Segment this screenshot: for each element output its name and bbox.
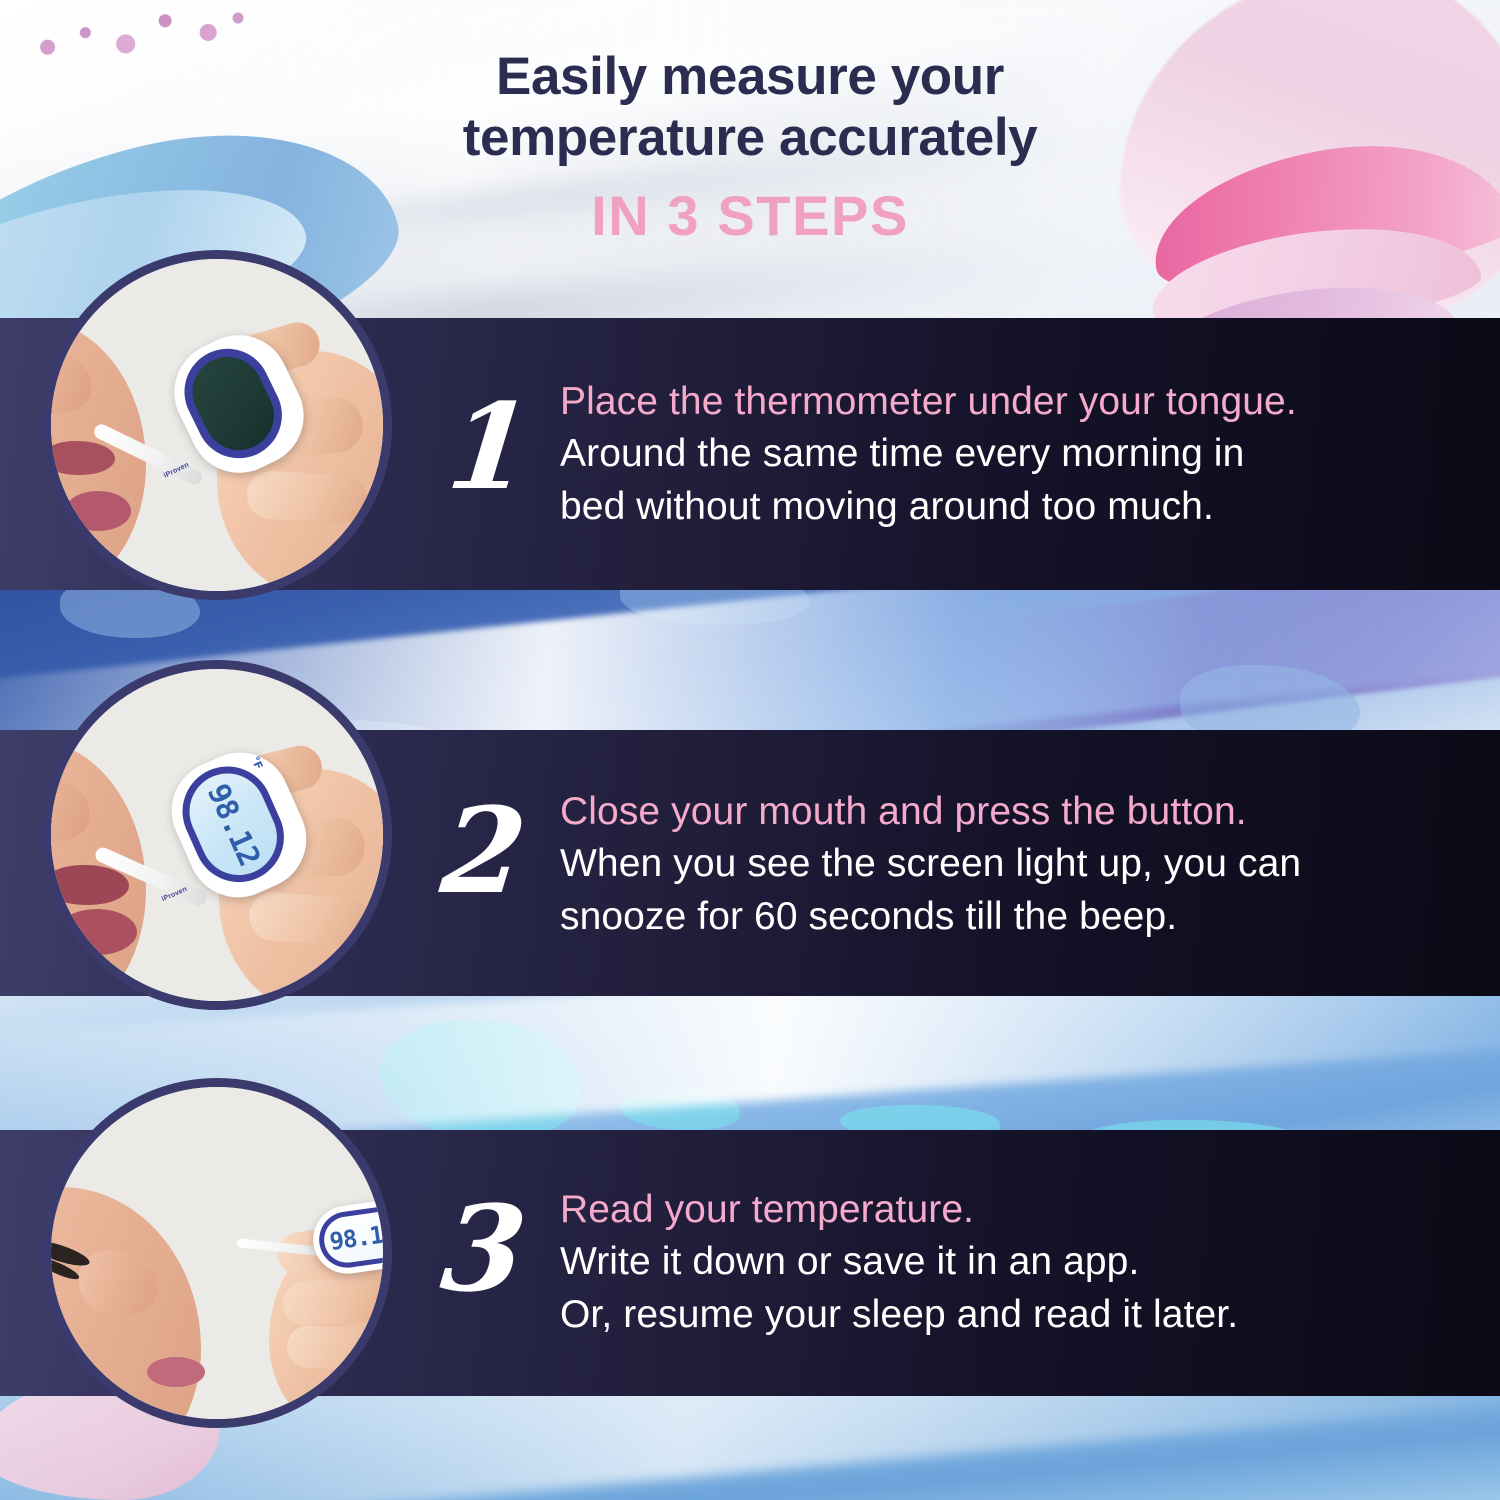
lower-lip-shape	[57, 909, 137, 955]
temperature-unit: °F	[248, 754, 265, 771]
thermometer-display-off	[181, 345, 286, 462]
landmass-shape	[620, 1090, 740, 1130]
middle-finger	[282, 1275, 392, 1327]
subheadline: IN 3 STEPS	[0, 183, 1500, 248]
step-photo-3: 98.12	[42, 1078, 392, 1428]
lips-shape	[147, 1357, 205, 1387]
upper-lip-shape	[45, 865, 129, 905]
step-photo-2: 98.12 °F iProven	[42, 660, 392, 1010]
landmass-shape	[380, 1020, 580, 1140]
headline-line-2: temperature accurately	[0, 107, 1500, 168]
thermometer-bezel: 98.12	[168, 752, 298, 896]
step-title-1: Place the thermometer under your tongue.	[560, 376, 1297, 428]
header-block: Easily measure your temperature accurate…	[0, 46, 1500, 248]
step-photo-1: iProven	[42, 250, 392, 600]
step-title-3: Read your temperature.	[560, 1184, 1238, 1236]
thermometer-bezel: 98.12	[316, 1204, 392, 1272]
step-text-1: Place the thermometer under your tongue.…	[560, 376, 1297, 533]
photo-scene-2: 98.12 °F iProven	[51, 669, 383, 1001]
step-body-2-line-1: When you see the screen light up, you ca…	[560, 838, 1301, 890]
step-text-3: Read your temperature. Write it down or …	[560, 1184, 1238, 1341]
step-body-1-line-1: Around the same time every morning in	[560, 428, 1297, 480]
step-number-2: 2	[418, 792, 550, 910]
chin-lip-shape	[65, 491, 131, 531]
lips-shape	[43, 441, 115, 475]
thermometer-display-on: 98.12	[321, 1209, 392, 1265]
thermometer-display-on: 98.12	[177, 761, 289, 887]
photo-scene-3: 98.12	[51, 1087, 383, 1419]
middle-finger	[246, 470, 368, 524]
headline-line-1: Easily measure your	[0, 46, 1500, 107]
ring-finger	[286, 1325, 392, 1371]
step-number-1: 1	[424, 388, 556, 506]
step-number-3: 3	[418, 1190, 550, 1308]
step-body-2-line-2: snooze for 60 seconds till the beep.	[560, 891, 1301, 943]
step-body-3-line-2: Or, resume your sleep and read it later.	[560, 1289, 1238, 1341]
photo-scene-1: iProven	[51, 259, 383, 591]
step-body-3-line-1: Write it down or save it in an app.	[560, 1236, 1238, 1288]
step-title-2: Close your mouth and press the button.	[560, 786, 1301, 838]
step-body-1-line-2: bed without moving around too much.	[560, 481, 1297, 533]
thermometer-bezel	[170, 334, 296, 472]
temperature-reading: 98.12	[328, 1219, 392, 1256]
middle-finger	[247, 891, 372, 947]
temperature-reading: 98.12	[200, 778, 267, 870]
step-text-2: Close your mouth and press the button. W…	[560, 786, 1301, 943]
